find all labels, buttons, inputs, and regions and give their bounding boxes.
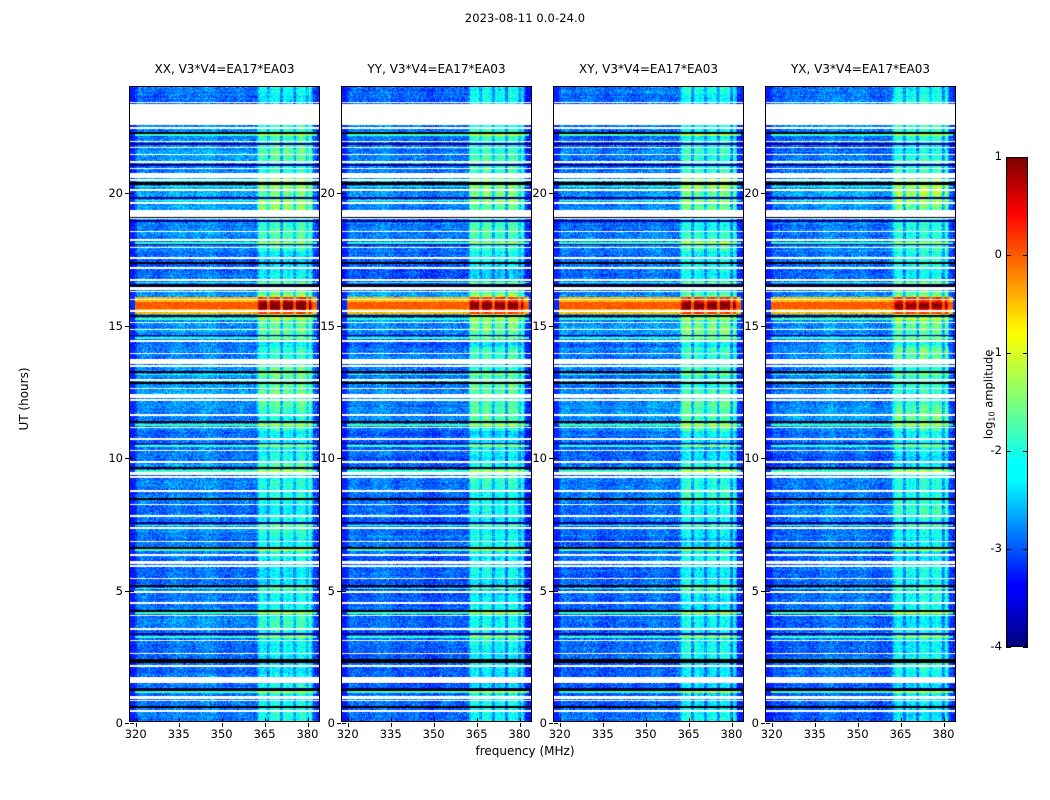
x-tick-label: 365 [881,727,921,741]
y-tick-inner [130,193,134,194]
y-tick [125,326,129,327]
x-tick-label: 380 [924,727,964,741]
colorbar-tick-right [1023,647,1028,648]
x-axis-label: frequency (MHz) [0,744,1050,758]
x-tick-label: 335 [795,727,835,741]
y-tick-label: 20 [89,186,123,200]
y-tick [761,723,765,724]
y-tick-inner [766,326,770,327]
waterfall-panel-xx[interactable] [129,86,320,722]
waterfall-panel-yy[interactable] [341,86,532,722]
y-tick [125,591,129,592]
y-tick-inner [554,723,558,724]
x-tick-inner [858,718,859,722]
y-tick [761,591,765,592]
colorbar-tick-right [1023,451,1028,452]
x-tick-label: 335 [159,727,199,741]
x-tick-inner [901,718,902,722]
y-tick-inner [342,193,346,194]
x-tick-inner [434,718,435,722]
y-tick-inner [130,591,134,592]
colorbar-tick-label: -3 [972,541,1002,555]
y-tick-label: 0 [513,716,547,730]
colorbar-tick-right [1023,255,1028,256]
y-tick-label: 0 [301,716,335,730]
y-tick-inner [342,326,346,327]
colorbar-label-text: log [982,422,996,440]
y-tick-label: 10 [513,451,547,465]
colorbar-tick [1006,549,1011,550]
x-tick-inner [646,718,647,722]
y-tick [125,458,129,459]
figure-suptitle: 2023-08-11 0.0-24.0 [0,11,1050,25]
colorbar-tick-label: -1 [972,345,1002,359]
y-tick [549,193,553,194]
x-tick-label: 335 [583,727,623,741]
y-tick-inner [766,458,770,459]
x-tick-inner [179,718,180,722]
y-tick-inner [766,591,770,592]
colorbar-tick-right [1023,353,1028,354]
x-tick-label: 365 [457,727,497,741]
y-tick-inner [766,193,770,194]
y-tick-label: 5 [513,584,547,598]
colorbar-tick-label: 1 [972,149,1002,163]
y-tick [337,326,341,327]
x-tick-label: 365 [245,727,285,741]
panel-title-xx: XX, V3*V4=EA17*EA03 [129,62,320,78]
y-tick-inner [554,458,558,459]
y-tick-label: 0 [725,716,759,730]
y-tick-label: 20 [513,186,547,200]
x-tick-inner [477,718,478,722]
x-tick-label: 335 [371,727,411,741]
panel-title-yx: YX, V3*V4=EA17*EA03 [765,62,956,78]
y-tick [549,458,553,459]
colorbar-tick-label: -2 [972,443,1002,457]
y-tick-inner [766,723,770,724]
colorbar-tick [1006,451,1011,452]
y-tick-inner [342,723,346,724]
x-tick-inner [944,718,945,722]
x-tick-inner [560,718,561,722]
y-tick-label: 5 [301,584,335,598]
x-tick-inner [772,718,773,722]
y-tick-inner [554,326,558,327]
panel-title-xy: XY, V3*V4=EA17*EA03 [553,62,744,78]
x-tick-inner [603,718,604,722]
y-tick-label: 15 [513,319,547,333]
x-tick-inner [391,718,392,722]
y-tick [337,591,341,592]
y-tick-inner [342,591,346,592]
y-tick-label: 15 [89,319,123,333]
y-tick-label: 5 [725,584,759,598]
x-tick-inner [222,718,223,722]
y-tick-label: 10 [301,451,335,465]
x-tick-inner [815,718,816,722]
x-tick-inner [136,718,137,722]
y-tick-inner [554,591,558,592]
colorbar-tick [1006,255,1011,256]
y-tick [125,193,129,194]
y-tick-label: 10 [89,451,123,465]
colorbar-tick [1006,647,1011,648]
y-tick-label: 15 [301,319,335,333]
y-tick-label: 0 [89,716,123,730]
figure-canvas: 2023-08-11 0.0-24.0 XX, V3*V4=EA17*EA03 … [0,0,1050,800]
y-tick [549,723,553,724]
y-tick [549,326,553,327]
x-tick-label: 350 [838,727,878,741]
y-tick-label: 20 [301,186,335,200]
y-tick-inner [130,723,134,724]
y-tick [337,193,341,194]
waterfall-panel-yx[interactable] [765,86,956,722]
colorbar-tick-right [1023,549,1028,550]
y-tick [761,193,765,194]
y-tick-label: 5 [89,584,123,598]
colorbar-tick [1006,353,1011,354]
x-tick-label: 350 [626,727,666,741]
y-tick-label: 15 [725,319,759,333]
y-tick [337,723,341,724]
x-tick-inner [689,718,690,722]
y-tick-inner [554,193,558,194]
y-tick-inner [130,458,134,459]
colorbar-label-subscript: 10 [987,411,996,421]
y-tick [761,326,765,327]
y-tick-label: 10 [725,451,759,465]
y-tick [337,458,341,459]
y-tick-inner [342,458,346,459]
colorbar-tick-right [1023,157,1028,158]
x-tick-label: 350 [202,727,242,741]
colorbar-tick [1006,157,1011,158]
y-tick-label: 20 [725,186,759,200]
x-tick-inner [265,718,266,722]
waterfall-panel-xy[interactable] [553,86,744,722]
y-tick [761,458,765,459]
colorbar-tick-label: 0 [972,247,1002,261]
x-tick-label: 350 [414,727,454,741]
x-tick-inner [348,718,349,722]
x-tick-label: 365 [669,727,709,741]
panel-title-yy: YY, V3*V4=EA17*EA03 [341,62,532,78]
colorbar[interactable] [1006,157,1028,647]
y-tick [549,591,553,592]
colorbar-tick-label: -4 [972,639,1002,653]
y-tick-inner [130,326,134,327]
y-axis-label: UT (hours) [17,339,31,459]
y-tick [125,723,129,724]
